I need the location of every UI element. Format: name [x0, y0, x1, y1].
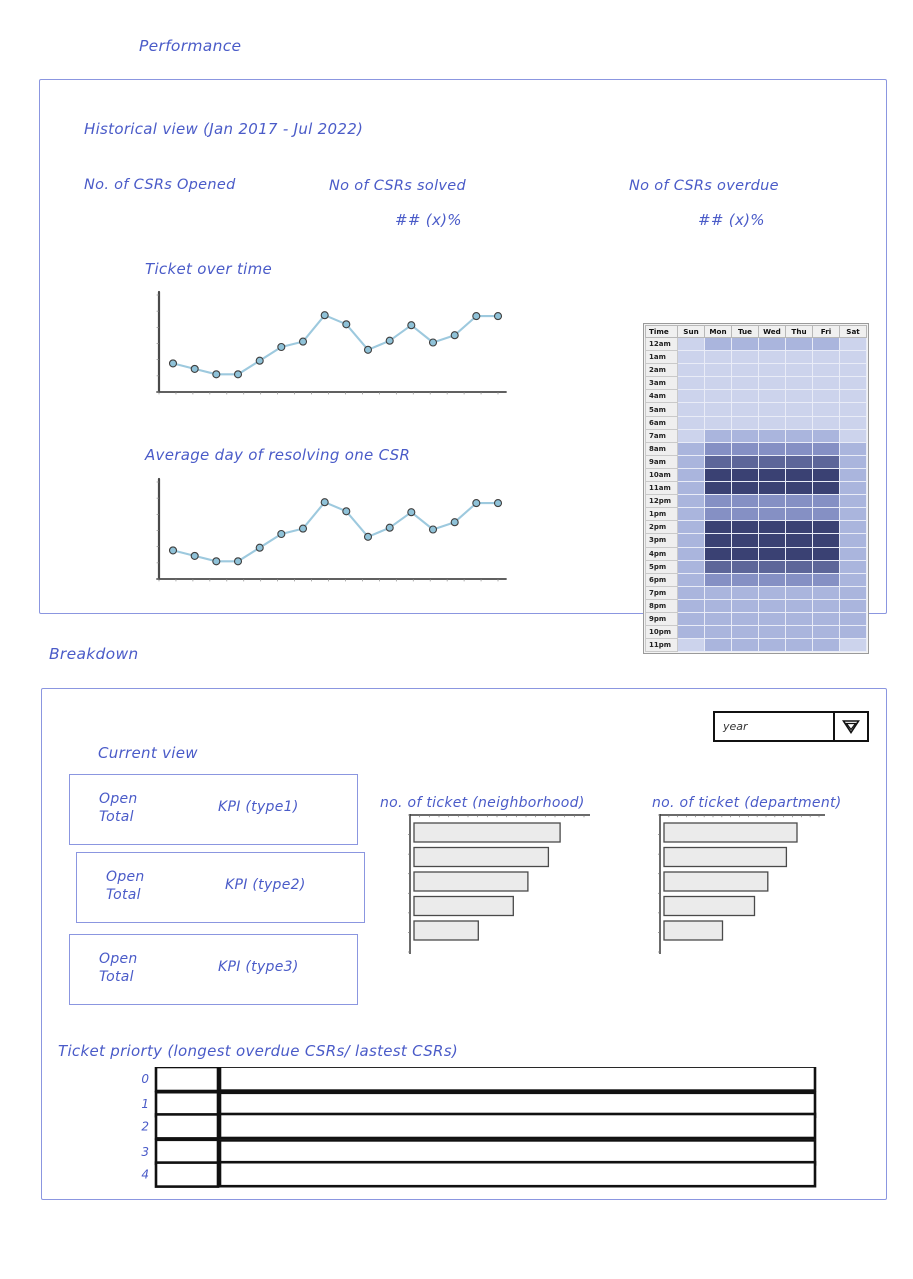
heatmap-cell — [786, 534, 813, 547]
kpi-total-label-1: Total — [99, 809, 134, 825]
heatmap-cell — [759, 429, 786, 442]
kpi-label-csrs-opened: No. of CSRs Opened — [84, 177, 236, 193]
kpi-value-csrs-overdue: ## (x)% — [698, 211, 765, 229]
heatmap-row: 8pm — [646, 599, 867, 612]
heatmap-cell — [732, 338, 759, 351]
heatmap-cell — [786, 442, 813, 455]
heatmap-cell — [813, 429, 840, 442]
heatmap-header-wed: Wed — [759, 326, 786, 338]
section-caption-breakdown: Breakdown — [49, 645, 139, 663]
bar-chart-department — [654, 813, 829, 956]
heatmap-cell — [732, 508, 759, 521]
priority-row-label: 1 — [141, 1097, 149, 1111]
heatmap-cell — [840, 351, 867, 364]
heatmap-hour-label: 2pm — [646, 521, 678, 534]
heatmap-row: 11am — [646, 482, 867, 495]
heatmap-cell — [732, 626, 759, 639]
heatmap-row: 3am — [646, 377, 867, 390]
heatmap-cell — [813, 351, 840, 364]
heatmap-cell — [705, 586, 732, 599]
heatmap-row: 1pm — [646, 508, 867, 521]
heatmap-cell — [813, 390, 840, 403]
heatmap-cell — [840, 455, 867, 468]
heatmap-hour-label: 1pm — [646, 508, 678, 521]
heatmap-cell — [813, 364, 840, 377]
heatmap-hour-label: 2am — [646, 364, 678, 377]
heatmap-cell — [759, 626, 786, 639]
heatmap-header-sat: Sat — [840, 326, 867, 338]
chevron-down-icon[interactable] — [833, 713, 867, 740]
heatmap-cell — [786, 377, 813, 390]
heatmap-cell — [759, 612, 786, 625]
heatmap-hour-label: 1am — [646, 351, 678, 364]
kpi-card-type1[interactable]: Open Total KPI (type1) — [69, 774, 358, 845]
heatmap-cell — [732, 364, 759, 377]
heatmap-cell — [813, 338, 840, 351]
heatmap-header-tue: Tue — [732, 326, 759, 338]
heatmap-cell — [813, 495, 840, 508]
heatmap-cell — [732, 442, 759, 455]
heatmap-cell — [813, 599, 840, 612]
heatmap-cell — [705, 626, 732, 639]
heatmap-cell — [840, 547, 867, 560]
heatmap-cell — [705, 547, 732, 560]
heatmap-cell — [678, 390, 705, 403]
heatmap-row: 10pm — [646, 626, 867, 639]
heatmap-row: 3pm — [646, 534, 867, 547]
heatmap-cell — [705, 351, 732, 364]
heatmap-cell — [786, 599, 813, 612]
kpi-card-type3[interactable]: Open Total KPI (type3) — [69, 934, 358, 1005]
heatmap-cell — [786, 560, 813, 573]
heatmap-hour-label: 5pm — [646, 560, 678, 573]
heatmap-cell — [678, 626, 705, 639]
heatmap-tickets-by-hour: TimeSunMonTueWedThuFriSat12am1am2am3am4a… — [643, 323, 869, 654]
bar-chart-title-department: no. of ticket (department) — [652, 795, 842, 811]
heatmap-cell — [705, 416, 732, 429]
heatmap-cell — [759, 573, 786, 586]
heatmap-cell — [813, 403, 840, 416]
heatmap-cell — [678, 639, 705, 652]
heatmap-cell — [678, 455, 705, 468]
kpi-label-csrs-overdue: No of CSRs overdue — [629, 178, 779, 194]
heatmap-cell — [813, 442, 840, 455]
heatmap-hour-label: 7am — [646, 429, 678, 442]
heatmap-cell — [705, 390, 732, 403]
heatmap-cell — [786, 403, 813, 416]
heatmap-cell — [840, 442, 867, 455]
heatmap-cell — [732, 534, 759, 547]
heatmap-cell — [678, 586, 705, 599]
heatmap-cell — [759, 639, 786, 652]
heatmap-hour-label: 4am — [646, 390, 678, 403]
heatmap-row: 10am — [646, 468, 867, 481]
heatmap-row: 5pm — [646, 560, 867, 573]
heatmap-cell — [840, 403, 867, 416]
kpi-value-csrs-solved: ## (x)% — [395, 211, 462, 229]
year-filter-value: year — [715, 720, 833, 733]
heatmap-cell — [678, 403, 705, 416]
heatmap-cell — [759, 416, 786, 429]
heatmap-cell — [678, 573, 705, 586]
heatmap-cell — [759, 390, 786, 403]
heatmap-hour-label: 3pm — [646, 534, 678, 547]
priority-row-label: 0 — [141, 1072, 149, 1086]
heatmap-cell — [786, 495, 813, 508]
heatmap-cell — [813, 586, 840, 599]
heatmap-cell — [813, 508, 840, 521]
heatmap-header-row: TimeSunMonTueWedThuFriSat — [646, 326, 867, 338]
heatmap-cell — [732, 573, 759, 586]
heatmap-cell — [786, 429, 813, 442]
heatmap-cell — [786, 639, 813, 652]
heatmap-cell — [840, 429, 867, 442]
heatmap-cell — [759, 377, 786, 390]
heatmap-cell — [759, 521, 786, 534]
heatmap-cell — [840, 338, 867, 351]
heatmap-cell — [813, 377, 840, 390]
heatmap-cell — [813, 534, 840, 547]
heatmap-cell — [732, 639, 759, 652]
heatmap-cell — [678, 547, 705, 560]
line-chart-ticket-over-time — [145, 289, 508, 405]
heatmap-cell — [678, 521, 705, 534]
heatmap-cell — [732, 547, 759, 560]
kpi-card-type2[interactable]: Open Total KPI (type2) — [76, 852, 365, 923]
heatmap-cell — [759, 455, 786, 468]
bar-chart-neighborhood — [404, 813, 594, 956]
heatmap-cell — [705, 521, 732, 534]
heatmap-cell — [813, 547, 840, 560]
heatmap-header-thu: Thu — [786, 326, 813, 338]
heatmap-hour-label: 7pm — [646, 586, 678, 599]
heatmap-cell — [705, 612, 732, 625]
heatmap-cell — [705, 482, 732, 495]
breakdown-panel: Current view year Open Total KPI (type1)… — [41, 688, 887, 1200]
heatmap-cell — [759, 560, 786, 573]
heatmap-cell — [759, 351, 786, 364]
heatmap-cell — [678, 429, 705, 442]
priority-row-label: 3 — [141, 1145, 149, 1159]
heatmap-cell — [759, 468, 786, 481]
ticket-priority-table[interactable]: 01234 — [134, 1067, 819, 1192]
heatmap-cell — [786, 351, 813, 364]
heatmap-cell — [840, 508, 867, 521]
heatmap-cell — [678, 377, 705, 390]
heatmap-cell — [786, 508, 813, 521]
kpi-card-label-1: KPI (type1) — [218, 799, 299, 815]
heatmap-cell — [840, 390, 867, 403]
kpi-open-label-2: Open — [106, 869, 145, 885]
heatmap-cell — [786, 626, 813, 639]
heatmap-header-fri: Fri — [813, 326, 840, 338]
heatmap-cell — [840, 482, 867, 495]
kpi-card-label-2: KPI (type2) — [225, 877, 306, 893]
line-chart-average-day — [145, 476, 508, 592]
chart-title-ticket-over-time: Ticket over time — [145, 260, 272, 278]
heatmap-hour-label: 6am — [646, 416, 678, 429]
heatmap-cell — [678, 560, 705, 573]
kpi-open-label-3: Open — [99, 951, 138, 967]
heatmap-cell — [786, 586, 813, 599]
heatmap-cell — [840, 521, 867, 534]
heatmap-cell — [678, 351, 705, 364]
heatmap-row: 9am — [646, 455, 867, 468]
heatmap-hour-label: 4pm — [646, 547, 678, 560]
heatmap-hour-label: 9pm — [646, 612, 678, 625]
heatmap-cell — [786, 482, 813, 495]
kpi-card-open-total-2: Open Total — [106, 869, 145, 904]
heatmap-row: 6pm — [646, 573, 867, 586]
kpi-total-label-2: Total — [106, 887, 141, 903]
heatmap-cell — [813, 482, 840, 495]
heatmap-cell — [840, 534, 867, 547]
heatmap-hour-label: 8pm — [646, 599, 678, 612]
heatmap-cell — [840, 364, 867, 377]
heatmap-cell — [759, 495, 786, 508]
heatmap-cell — [786, 390, 813, 403]
heatmap-cell — [705, 508, 732, 521]
heatmap-cell — [732, 351, 759, 364]
heatmap-cell — [705, 338, 732, 351]
heatmap-cell — [840, 612, 867, 625]
heatmap-cell — [732, 429, 759, 442]
heatmap-cell — [732, 560, 759, 573]
heatmap-cell — [840, 573, 867, 586]
heatmap-cell — [759, 586, 786, 599]
heatmap-cell — [840, 599, 867, 612]
heatmap-row: 11pm — [646, 639, 867, 652]
chart-title-average-day: Average day of resolving one CSR — [145, 446, 410, 464]
heatmap-cell — [678, 468, 705, 481]
heatmap-cell — [678, 482, 705, 495]
heatmap-cell — [786, 364, 813, 377]
heatmap-cell — [840, 560, 867, 573]
heatmap-cell — [732, 468, 759, 481]
heatmap-cell — [786, 573, 813, 586]
kpi-open-label-1: Open — [99, 791, 138, 807]
heatmap-cell — [705, 429, 732, 442]
heatmap-cell — [840, 495, 867, 508]
heatmap-cell — [705, 639, 732, 652]
heatmap-row: 9pm — [646, 612, 867, 625]
heatmap-cell — [813, 455, 840, 468]
heatmap-row: 6am — [646, 416, 867, 429]
heatmap-header-time: Time — [646, 326, 678, 338]
heatmap-cell — [786, 612, 813, 625]
heatmap-cell — [678, 612, 705, 625]
ticket-priority-title: Ticket priorty (longest overdue CSRs/ la… — [58, 1042, 458, 1060]
heatmap-row: 1am — [646, 351, 867, 364]
heatmap-hour-label: 10am — [646, 468, 678, 481]
heatmap-cell — [840, 626, 867, 639]
heatmap-hour-label: 6pm — [646, 573, 678, 586]
heatmap-cell — [732, 403, 759, 416]
heatmap-cell — [705, 377, 732, 390]
heatmap-cell — [678, 495, 705, 508]
heatmap-hour-label: 3am — [646, 377, 678, 390]
heatmap-cell — [678, 599, 705, 612]
heatmap-cell — [678, 364, 705, 377]
heatmap-cell — [705, 468, 732, 481]
heatmap-cell — [732, 521, 759, 534]
heatmap-hour-label: 10pm — [646, 626, 678, 639]
heatmap-cell — [732, 377, 759, 390]
heatmap-cell — [786, 455, 813, 468]
heatmap-cell — [678, 508, 705, 521]
heatmap-cell — [705, 403, 732, 416]
heatmap-cell — [759, 442, 786, 455]
heatmap-row: 12pm — [646, 495, 867, 508]
heatmap-cell — [813, 639, 840, 652]
heatmap-cell — [732, 495, 759, 508]
heatmap-cell — [786, 338, 813, 351]
heatmap-row: 2pm — [646, 521, 867, 534]
heatmap-row: 4pm — [646, 547, 867, 560]
heatmap-row: 7pm — [646, 586, 867, 599]
heatmap-hour-label: 8am — [646, 442, 678, 455]
priority-row-label: 2 — [141, 1119, 149, 1133]
bar-chart-title-neighborhood: no. of ticket (neighborhood) — [380, 795, 585, 811]
heatmap-cell — [759, 482, 786, 495]
heatmap-row: 2am — [646, 364, 867, 377]
heatmap-row: 12am — [646, 338, 867, 351]
heatmap-cell — [813, 612, 840, 625]
kpi-card-open-total-3: Open Total — [99, 951, 138, 986]
heatmap-cell — [813, 416, 840, 429]
heatmap-hour-label: 12am — [646, 338, 678, 351]
heatmap-hour-label: 12pm — [646, 495, 678, 508]
heatmap-cell — [840, 639, 867, 652]
heatmap-cell — [759, 534, 786, 547]
heatmap-cell — [840, 586, 867, 599]
heatmap-cell — [705, 455, 732, 468]
heatmap-cell — [705, 573, 732, 586]
heatmap-row: 5am — [646, 403, 867, 416]
heatmap-cell — [786, 547, 813, 560]
heatmap-row: 8am — [646, 442, 867, 455]
heatmap-cell — [678, 416, 705, 429]
heatmap-cell — [732, 482, 759, 495]
heatmap-cell — [813, 573, 840, 586]
heatmap-cell — [732, 599, 759, 612]
heatmap-cell — [732, 612, 759, 625]
heatmap-cell — [732, 586, 759, 599]
heatmap-cell — [705, 599, 732, 612]
priority-row-label: 4 — [141, 1168, 149, 1182]
heatmap-cell — [732, 390, 759, 403]
heatmap-cell — [759, 599, 786, 612]
heatmap-cell — [732, 455, 759, 468]
heatmap-cell — [786, 468, 813, 481]
heatmap-cell — [786, 521, 813, 534]
heatmap-cell — [813, 626, 840, 639]
heatmap-cell — [840, 468, 867, 481]
heatmap-table: TimeSunMonTueWedThuFriSat12am1am2am3am4a… — [645, 325, 867, 652]
heatmap-row: 4am — [646, 390, 867, 403]
heatmap-cell — [759, 547, 786, 560]
kpi-label-csrs-solved: No of CSRs solved — [329, 178, 466, 194]
year-filter-dropdown[interactable]: year — [713, 711, 869, 742]
historical-view-title: Historical view (Jan 2017 - Jul 2022) — [84, 120, 363, 138]
current-view-title: Current view — [98, 744, 198, 762]
heatmap-cell — [705, 495, 732, 508]
section-caption-performance: Performance — [139, 37, 241, 55]
heatmap-cell — [759, 403, 786, 416]
heatmap-row: 7am — [646, 429, 867, 442]
heatmap-cell — [759, 338, 786, 351]
heatmap-cell — [732, 416, 759, 429]
heatmap-header-mon: Mon — [705, 326, 732, 338]
kpi-card-label-3: KPI (type3) — [218, 959, 299, 975]
heatmap-cell — [840, 416, 867, 429]
heatmap-cell — [705, 442, 732, 455]
heatmap-hour-label: 11am — [646, 482, 678, 495]
heatmap-cell — [840, 377, 867, 390]
heatmap-hour-label: 11pm — [646, 639, 678, 652]
kpi-card-open-total-1: Open Total — [99, 791, 138, 826]
heatmap-cell — [705, 534, 732, 547]
heatmap-cell — [678, 534, 705, 547]
heatmap-header-sun: Sun — [678, 326, 705, 338]
heatmap-cell — [813, 560, 840, 573]
heatmap-hour-label: 9am — [646, 455, 678, 468]
performance-panel: Historical view (Jan 2017 - Jul 2022) No… — [39, 79, 887, 614]
heatmap-hour-label: 5am — [646, 403, 678, 416]
kpi-total-label-3: Total — [99, 969, 134, 985]
heatmap-cell — [813, 521, 840, 534]
heatmap-cell — [705, 364, 732, 377]
heatmap-cell — [759, 364, 786, 377]
heatmap-cell — [813, 468, 840, 481]
heatmap-cell — [786, 416, 813, 429]
heatmap-cell — [705, 560, 732, 573]
heatmap-cell — [678, 338, 705, 351]
heatmap-cell — [759, 508, 786, 521]
heatmap-cell — [678, 442, 705, 455]
